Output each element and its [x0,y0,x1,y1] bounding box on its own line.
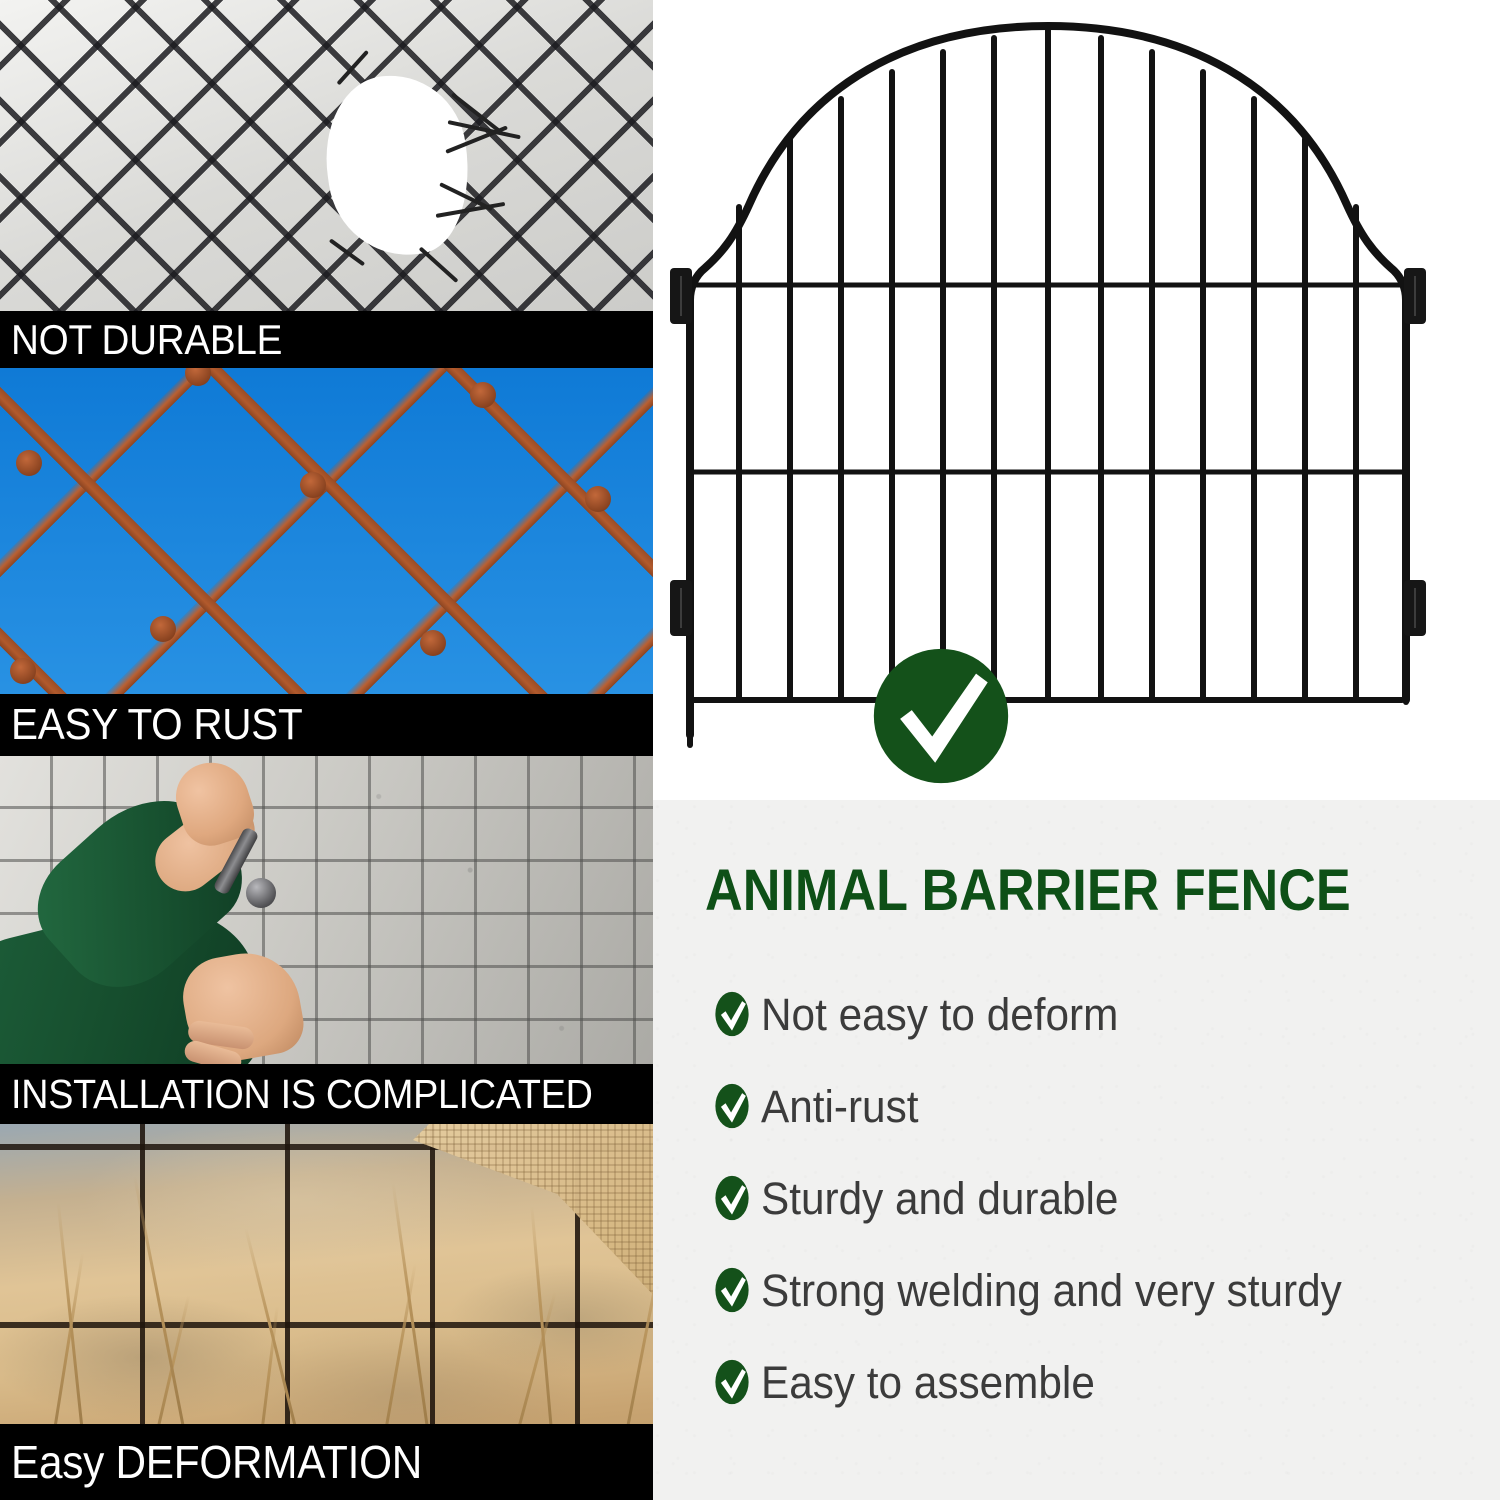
caption-label-easy-to-rust: EASY TO RUST [0,700,302,750]
comparison-panel-installation: INSTALLATION IS COMPLICATED [0,756,653,1124]
comparison-panel-easy-to-rust: EASY TO RUST [0,368,653,756]
feature-item: Not easy to deform [713,968,1500,1060]
feature-label: Strong welding and very sturdy [761,1268,1342,1313]
check-ellipse-icon [713,1266,751,1314]
caption-bar-not-durable: NOT DURABLE [0,311,653,368]
comparison-column: NOT DURABLE EASY TO RUST [0,0,653,1500]
product-title: ANIMAL BARRIER FENCE [705,862,1351,920]
check-ellipse-icon [713,1174,751,1222]
caption-label-not-durable: NOT DURABLE [0,316,282,364]
check-ellipse-icon [713,1358,751,1406]
green-check-circle-icon [868,643,1014,789]
tool-head [246,878,276,908]
feature-label: Not easy to deform [761,992,1118,1037]
comparison-panel-not-durable: NOT DURABLE [0,0,653,368]
feature-item: Easy to assemble [713,1336,1500,1428]
comparison-panel-deformation: Easy DEFORMATION [0,1124,653,1500]
check-ellipse-icon [713,990,751,1038]
caption-label-deformation: Easy DEFORMATION [0,1435,422,1489]
infographic-root: NOT DURABLE EASY TO RUST [0,0,1500,1500]
feature-item: Anti-rust [713,1060,1500,1152]
caption-bar-deformation: Easy DEFORMATION [0,1424,653,1500]
caption-bar-installation: INSTALLATION IS COMPLICATED [0,1064,653,1124]
features-panel: ANIMAL BARRIER FENCE Not easy to deform [653,800,1500,1500]
caption-label-installation: INSTALLATION IS COMPLICATED [0,1071,593,1118]
arched-metal-fence-panel-illustration [653,0,1500,800]
check-ellipse-icon [713,1082,751,1130]
product-photo-area [653,0,1500,800]
feature-item: Strong welding and very sturdy [713,1244,1500,1336]
feature-label: Sturdy and durable [761,1176,1118,1221]
torn-mesh-hole [318,69,476,261]
caption-bar-easy-to-rust: EASY TO RUST [0,694,653,756]
feature-list: Not easy to deform Anti-rust [713,968,1500,1428]
feature-label: Easy to assemble [761,1360,1095,1405]
feature-label: Anti-rust [761,1084,918,1129]
feature-item: Sturdy and durable [713,1152,1500,1244]
